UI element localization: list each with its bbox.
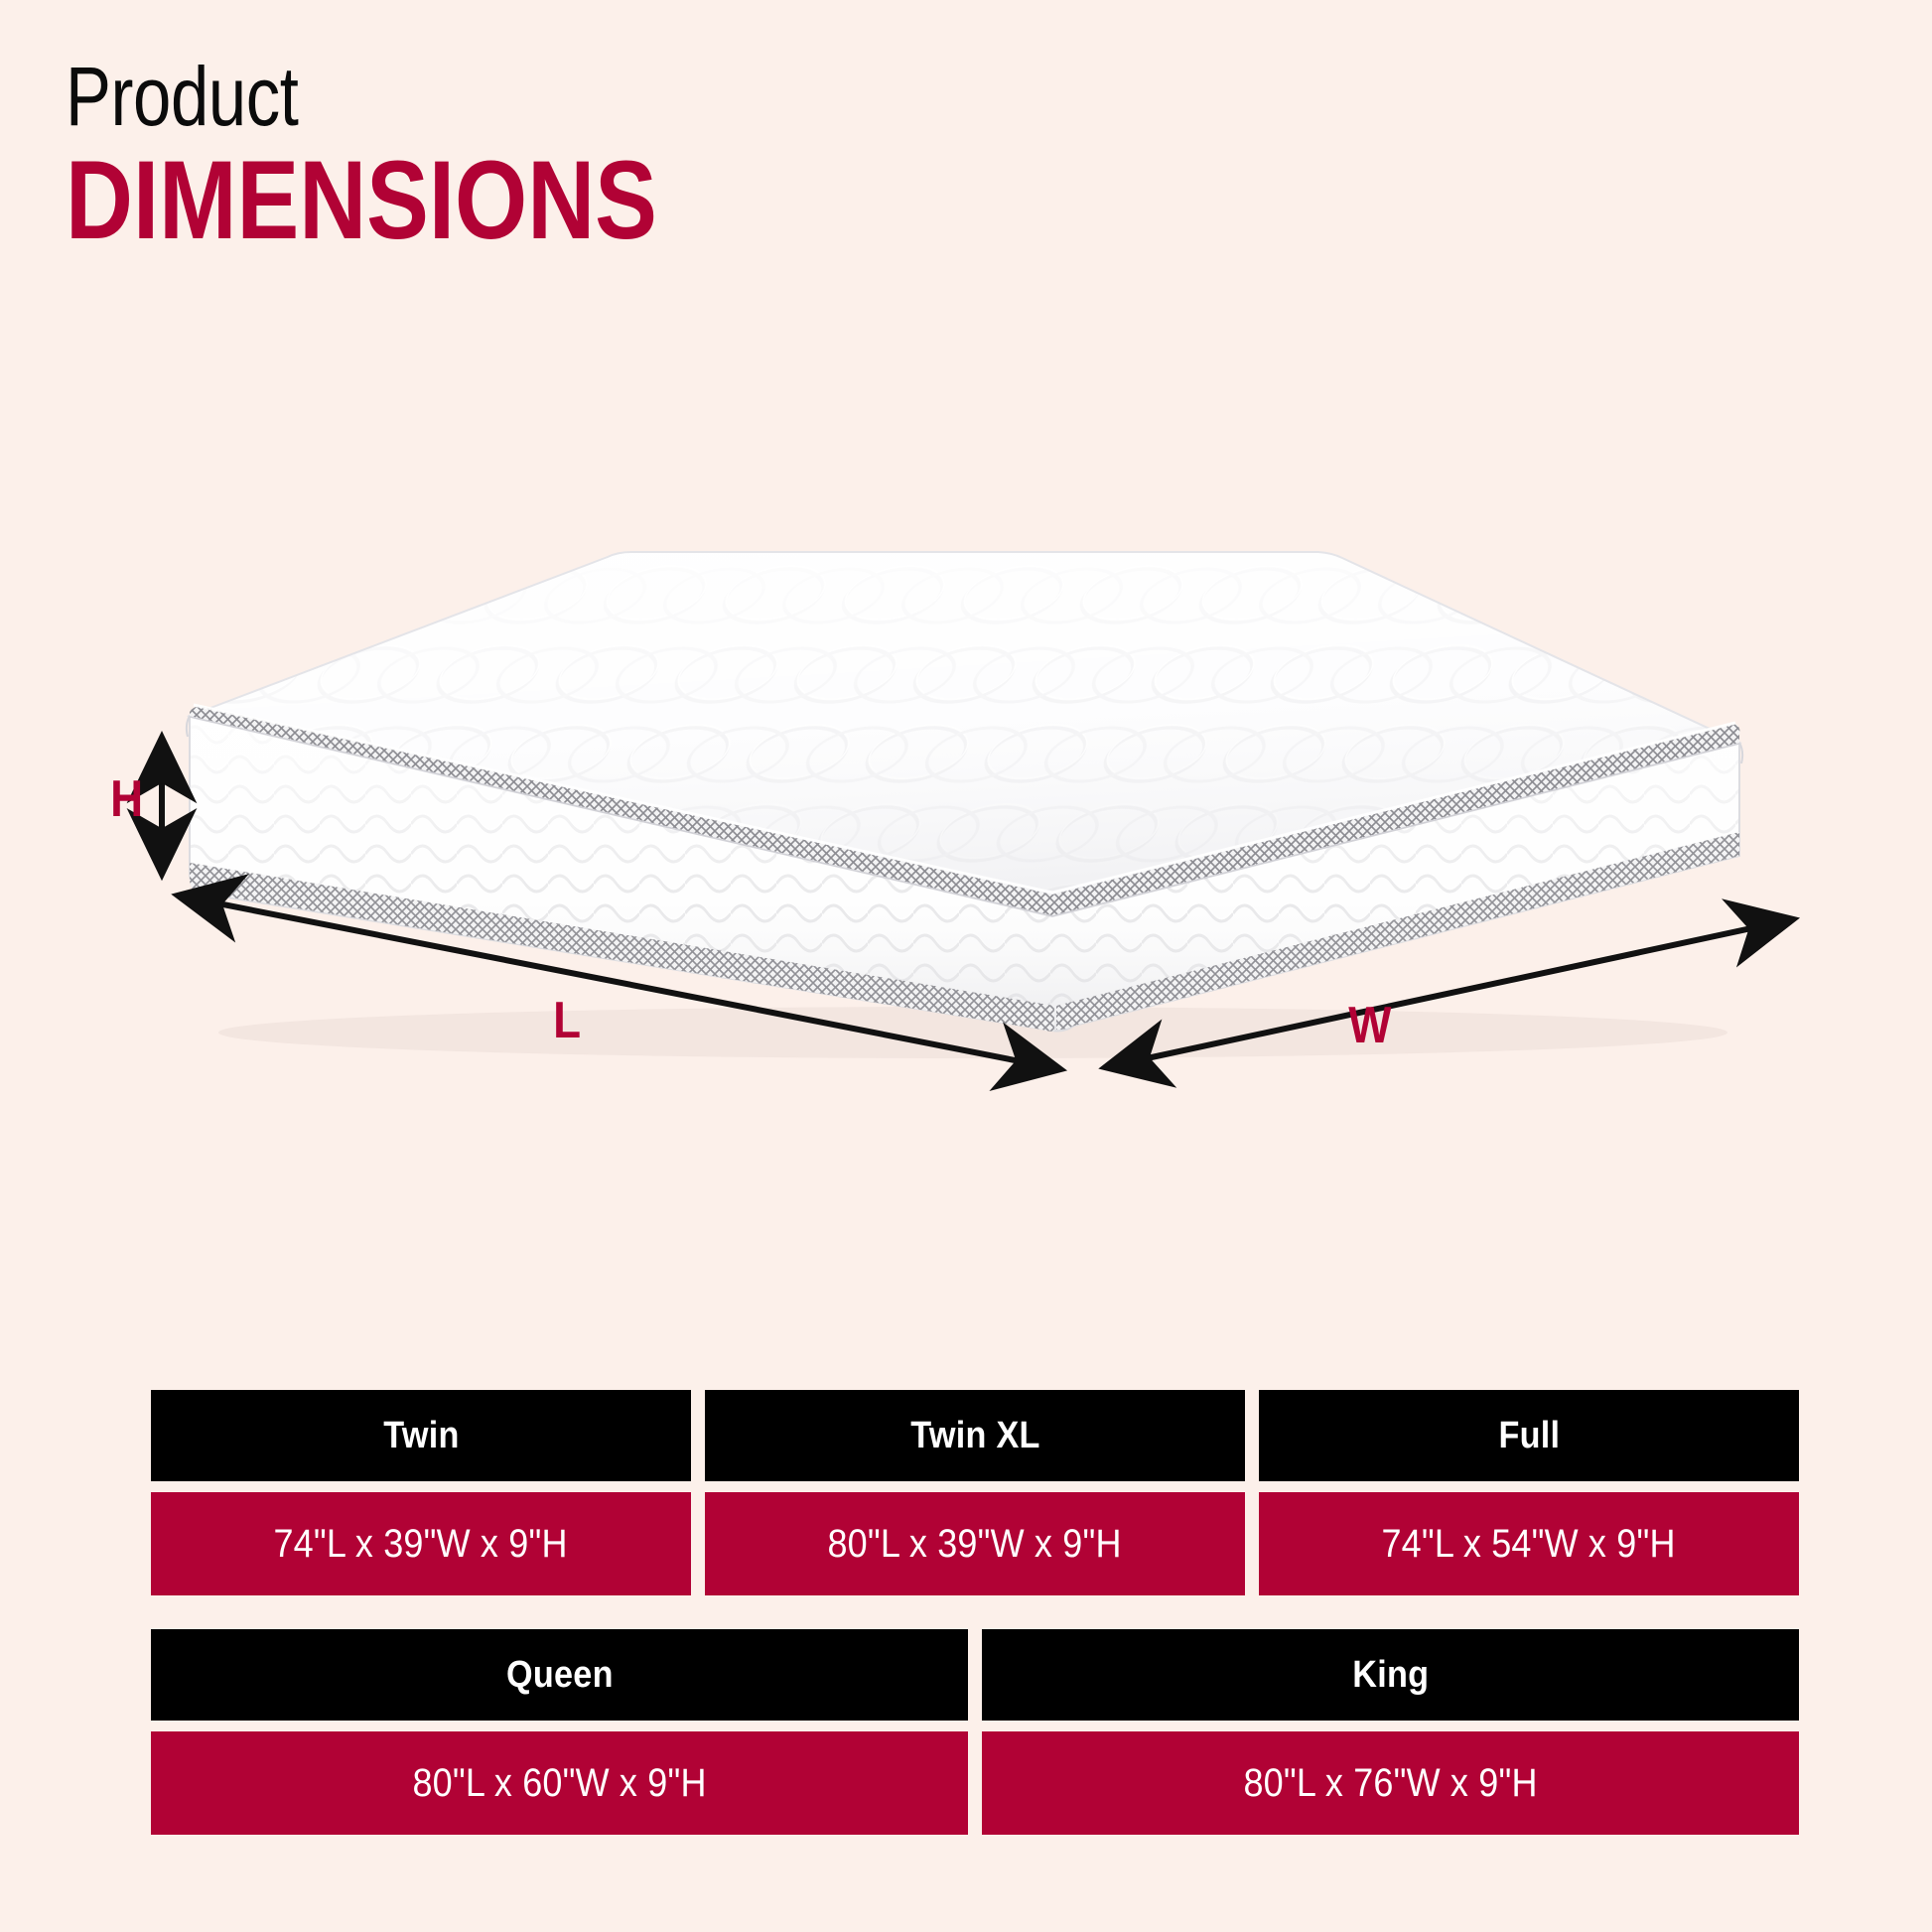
- size-cell-twin: Twin 74"L x 39"W x 9"H: [151, 1390, 691, 1595]
- width-label: W: [1348, 997, 1392, 1053]
- size-dimensions: 74"L x 39"W x 9"H: [274, 1522, 568, 1567]
- infographic-canvas: Product DIMENSIONS: [0, 0, 1932, 1932]
- dimensions-table: Twin 74"L x 39"W x 9"H Twin XL 80"L x 39…: [151, 1390, 1799, 1835]
- size-name: Queen: [506, 1629, 614, 1721]
- length-label: L: [553, 992, 581, 1048]
- size-name: Twin: [383, 1390, 459, 1481]
- size-header: King: [982, 1629, 1799, 1721]
- size-cell-king: King 80"L x 76"W x 9"H: [982, 1629, 1799, 1835]
- size-dimensions: 80"L x 60"W x 9"H: [412, 1761, 706, 1806]
- height-label: H: [110, 770, 143, 827]
- size-cell-twin-xl: Twin XL 80"L x 39"W x 9"H: [705, 1390, 1245, 1595]
- size-name: Full: [1498, 1390, 1560, 1481]
- size-dimensions: 74"L x 54"W x 9"H: [1382, 1522, 1676, 1567]
- size-header: Full: [1259, 1390, 1799, 1481]
- mattress-illustration: H L W: [0, 0, 1932, 1172]
- size-name: Twin XL: [910, 1390, 1039, 1481]
- size-cell-full: Full 74"L x 54"W x 9"H: [1259, 1390, 1799, 1595]
- table-row: Twin 74"L x 39"W x 9"H Twin XL 80"L x 39…: [151, 1390, 1799, 1595]
- size-header: Twin XL: [705, 1390, 1245, 1481]
- size-value: 74"L x 54"W x 9"H: [1259, 1492, 1799, 1595]
- table-row: Queen 80"L x 60"W x 9"H King 80"L x 76"W…: [151, 1629, 1799, 1835]
- size-dimensions: 80"L x 39"W x 9"H: [828, 1522, 1122, 1567]
- size-value: 80"L x 60"W x 9"H: [151, 1731, 968, 1835]
- size-value: 74"L x 39"W x 9"H: [151, 1492, 691, 1595]
- size-name: King: [1352, 1629, 1429, 1721]
- size-cell-queen: Queen 80"L x 60"W x 9"H: [151, 1629, 968, 1835]
- size-value: 80"L x 76"W x 9"H: [982, 1731, 1799, 1835]
- size-dimensions: 80"L x 76"W x 9"H: [1243, 1761, 1537, 1806]
- size-header: Twin: [151, 1390, 691, 1481]
- size-value: 80"L x 39"W x 9"H: [705, 1492, 1245, 1595]
- size-header: Queen: [151, 1629, 968, 1721]
